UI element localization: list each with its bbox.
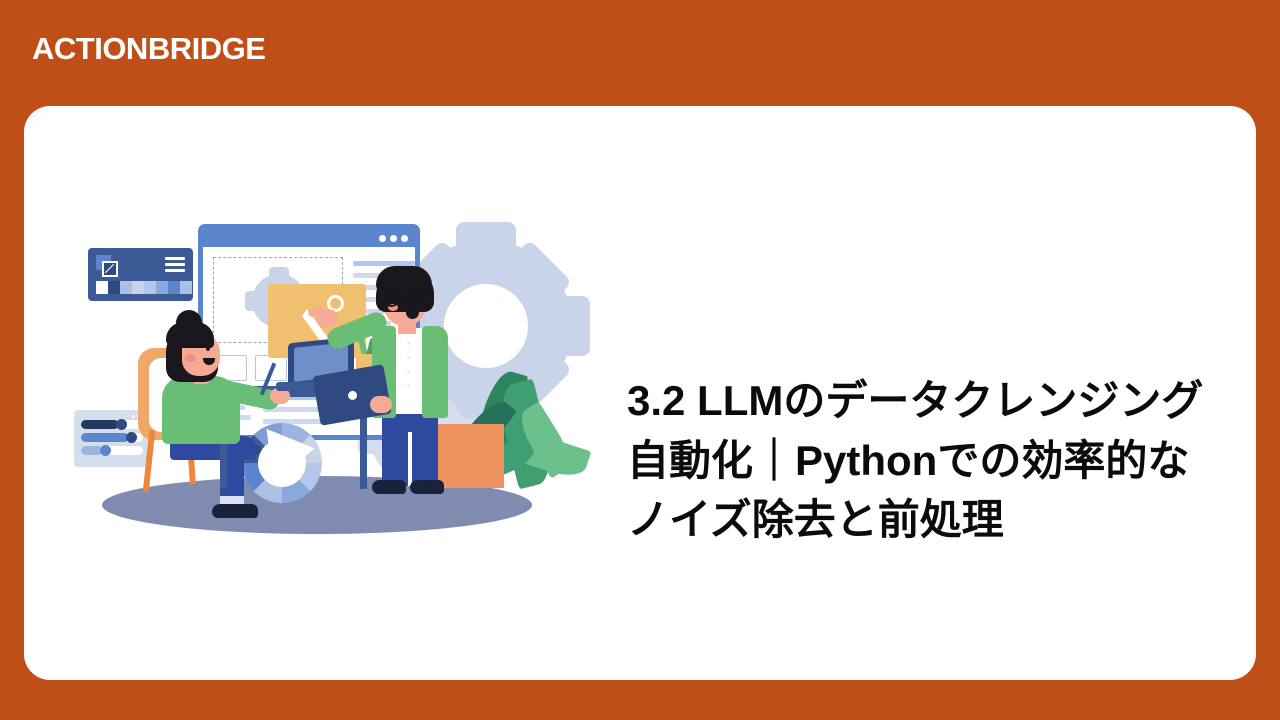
man-shoe-right bbox=[410, 480, 444, 494]
woman-shoe bbox=[212, 504, 258, 518]
slider-track-3[interactable] bbox=[81, 446, 143, 455]
planter-box bbox=[432, 424, 504, 488]
color-picker-wheel[interactable] bbox=[242, 423, 322, 503]
page-title: 3.2 LLMのデータクレンジング自動化｜Pythonでの効率的なノイズ除去と前… bbox=[627, 371, 1227, 550]
color-swatch[interactable] bbox=[180, 281, 192, 294]
layer-tool-panel[interactable] bbox=[88, 248, 193, 301]
hamburger-menu-icon[interactable] bbox=[165, 257, 185, 275]
slider-knob[interactable] bbox=[100, 445, 111, 456]
slider-knob[interactable] bbox=[126, 432, 137, 443]
hero-illustration bbox=[70, 218, 590, 548]
color-swatch[interactable] bbox=[144, 281, 156, 294]
slider-knob[interactable] bbox=[116, 419, 127, 430]
window-dot-icon-2[interactable] bbox=[390, 235, 397, 242]
man-hair-front bbox=[376, 266, 432, 292]
gear-icon-large-hole bbox=[444, 284, 528, 368]
color-swatch[interactable] bbox=[108, 281, 120, 294]
woman-cheek bbox=[185, 354, 196, 362]
color-swatch[interactable] bbox=[96, 281, 108, 294]
color-swatch[interactable] bbox=[120, 281, 132, 294]
slider-track-2[interactable] bbox=[81, 433, 143, 442]
color-swatch-row[interactable] bbox=[96, 281, 192, 294]
woman-hair-front bbox=[166, 322, 214, 348]
panel-title-bar bbox=[77, 413, 147, 420]
content-card: 3.2 LLMのデータクレンジング自動化｜Pythonでの効率的なノイズ除去と前… bbox=[24, 106, 1256, 680]
woman-eye bbox=[206, 346, 210, 351]
man-arm-lower bbox=[426, 358, 447, 414]
glasses-icon bbox=[382, 292, 430, 307]
man-shoe-left bbox=[372, 480, 406, 494]
transform-icon[interactable] bbox=[102, 261, 118, 277]
window-dot-icon-3[interactable] bbox=[401, 235, 408, 242]
slider-fill bbox=[81, 420, 119, 429]
brand-logo: ACTIONBRIDGE bbox=[32, 33, 265, 64]
color-triangle-selector[interactable] bbox=[249, 429, 314, 491]
window-dot-icon-1[interactable] bbox=[379, 235, 386, 242]
slider-fill bbox=[81, 433, 129, 442]
window-title-bar bbox=[203, 229, 415, 247]
slider-track-1[interactable] bbox=[81, 420, 143, 429]
color-swatch[interactable] bbox=[156, 281, 168, 294]
man-hand-lower bbox=[370, 396, 392, 413]
color-swatch[interactable] bbox=[168, 281, 180, 294]
color-swatch[interactable] bbox=[132, 281, 144, 294]
man-pants bbox=[382, 410, 438, 486]
